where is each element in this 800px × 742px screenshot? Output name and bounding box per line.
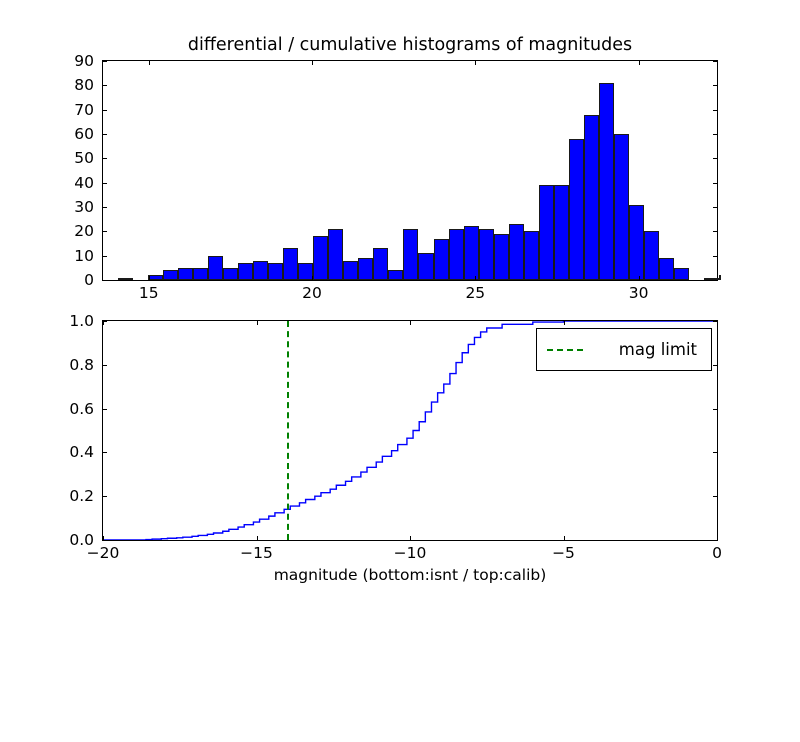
histogram-bar [373, 248, 388, 280]
top-xtick-mark [312, 60, 313, 65]
bottom-xtick-mark [103, 320, 104, 325]
top-ytick-label: 60 [54, 126, 94, 142]
top-xtick-mark [149, 60, 150, 65]
bottom-xtick-mark [410, 536, 411, 541]
bottom-panel-xlabel: magnitude (bottom:isnt / top:calib) [102, 565, 718, 585]
legend-entry-label: mag limit [583, 340, 701, 359]
top-ytick-mark [713, 207, 718, 208]
histogram-bar [479, 229, 494, 280]
top-ytick-mark [713, 183, 718, 184]
top-ytick-mark [713, 110, 718, 111]
bottom-xtick-mark [410, 320, 411, 325]
bottom-xtick-label: −10 [380, 544, 440, 562]
top-ytick-mark [102, 207, 107, 208]
top-ytick-mark [713, 85, 718, 86]
top-ytick-label: 70 [54, 102, 94, 118]
bottom-xtick-label: 0 [687, 544, 747, 562]
top-ytick-mark [713, 231, 718, 232]
histogram-bar [674, 268, 689, 280]
top-xtick-label: 15 [119, 284, 179, 302]
histogram-bar [148, 275, 163, 280]
legend-box: mag limit [536, 328, 712, 371]
top-ytick-mark [713, 158, 718, 159]
histogram-bar [614, 134, 629, 280]
top-ytick-label: 90 [54, 53, 94, 69]
bottom-xtick-mark [564, 536, 565, 541]
histogram-bar [388, 270, 403, 280]
top-ytick-mark [102, 61, 107, 62]
histogram-bar [539, 185, 554, 280]
top-ytick-mark [713, 280, 718, 281]
top-ytick-mark [102, 231, 107, 232]
bottom-ytick-label: 0.6 [50, 401, 94, 417]
histogram-bar [569, 139, 584, 280]
histogram-bar [599, 83, 614, 280]
histogram-bar [358, 258, 373, 280]
histogram-bar [178, 268, 193, 280]
histogram-bar [554, 185, 569, 280]
top-ytick-mark [713, 134, 718, 135]
top-ytick-mark [102, 134, 107, 135]
bottom-xtick-mark [717, 320, 718, 325]
histogram-bar [659, 258, 674, 280]
top-xtick-label: 25 [445, 284, 505, 302]
top-ytick-label: 20 [54, 223, 94, 239]
top-ytick-mark [102, 183, 107, 184]
histogram-bar [253, 261, 268, 280]
bottom-xtick-mark [103, 536, 104, 541]
top-ytick-mark [713, 256, 718, 257]
top-ytick-label: 40 [54, 175, 94, 191]
top-ytick-label: 10 [54, 248, 94, 264]
histogram-bar [283, 248, 298, 280]
top-ytick-mark [713, 61, 718, 62]
bottom-xtick-mark [564, 320, 565, 325]
histogram-bar [494, 234, 509, 280]
histogram-bar [434, 239, 449, 280]
histogram-bar [629, 205, 644, 280]
top-xtick-label: 20 [282, 284, 342, 302]
bottom-xtick-label: −15 [227, 544, 287, 562]
histogram-bar [238, 263, 253, 280]
histogram-bar [118, 278, 133, 280]
histogram-bar [328, 229, 343, 280]
top-xtick-mark [475, 60, 476, 65]
histogram-bar [464, 226, 479, 280]
bottom-ytick-mark [713, 496, 718, 497]
top-ytick-mark [102, 280, 107, 281]
bottom-ytick-mark [102, 496, 107, 497]
bottom-ytick-mark [713, 365, 718, 366]
bottom-xtick-label: −20 [73, 544, 133, 562]
top-xtick-mark [639, 276, 640, 281]
histogram-bar [313, 236, 328, 280]
bottom-ytick-label: 0.2 [50, 488, 94, 504]
bottom-ytick-mark [102, 452, 107, 453]
bottom-ytick-label: 0.4 [50, 444, 94, 460]
top-xtick-mark [149, 276, 150, 281]
top-ytick-label: 30 [54, 199, 94, 215]
top-panel-axes [102, 60, 718, 281]
histogram-bar [343, 261, 358, 280]
bottom-ytick-mark [713, 409, 718, 410]
top-ytick-mark [102, 158, 107, 159]
histogram-bar [403, 229, 418, 280]
top-xtick-mark [475, 276, 476, 281]
bottom-xtick-mark [257, 320, 258, 325]
histogram-bar [719, 275, 721, 280]
histogram-bar [524, 231, 539, 280]
histogram-bar [268, 263, 283, 280]
top-xtick-mark [312, 276, 313, 281]
bottom-ytick-mark [713, 452, 718, 453]
histogram-bar [449, 229, 464, 280]
bottom-ytick-mark [102, 365, 107, 366]
histogram-bar [509, 224, 524, 280]
bottom-xtick-mark [257, 536, 258, 541]
bottom-ytick-label: 0.8 [50, 357, 94, 373]
bottom-ytick-mark [102, 409, 107, 410]
bottom-xtick-label: −5 [534, 544, 594, 562]
top-ytick-mark [102, 85, 107, 86]
top-ytick-label: 50 [54, 150, 94, 166]
top-xtick-mark [639, 60, 640, 65]
histogram-bar [163, 270, 178, 280]
mag-limit-line [287, 321, 289, 540]
top-ytick-mark [102, 256, 107, 257]
histogram-bar [223, 268, 238, 280]
histogram-bar [193, 268, 208, 280]
top-ytick-label: 0 [54, 272, 94, 288]
top-ytick-label: 80 [54, 77, 94, 93]
top-ytick-mark [102, 110, 107, 111]
histogram-bar [644, 231, 659, 280]
figure-title: differential / cumulative histograms of … [102, 33, 718, 57]
histogram-bar [584, 115, 599, 280]
mag-limit-legend-swatch [547, 349, 583, 351]
matplotlib-figure: differential / cumulative histograms of … [0, 0, 800, 600]
histogram-bar [418, 253, 433, 280]
top-xtick-label: 30 [609, 284, 669, 302]
histogram-bar [208, 256, 223, 280]
bottom-xtick-mark [717, 536, 718, 541]
bottom-ytick-label: 1.0 [50, 313, 94, 329]
